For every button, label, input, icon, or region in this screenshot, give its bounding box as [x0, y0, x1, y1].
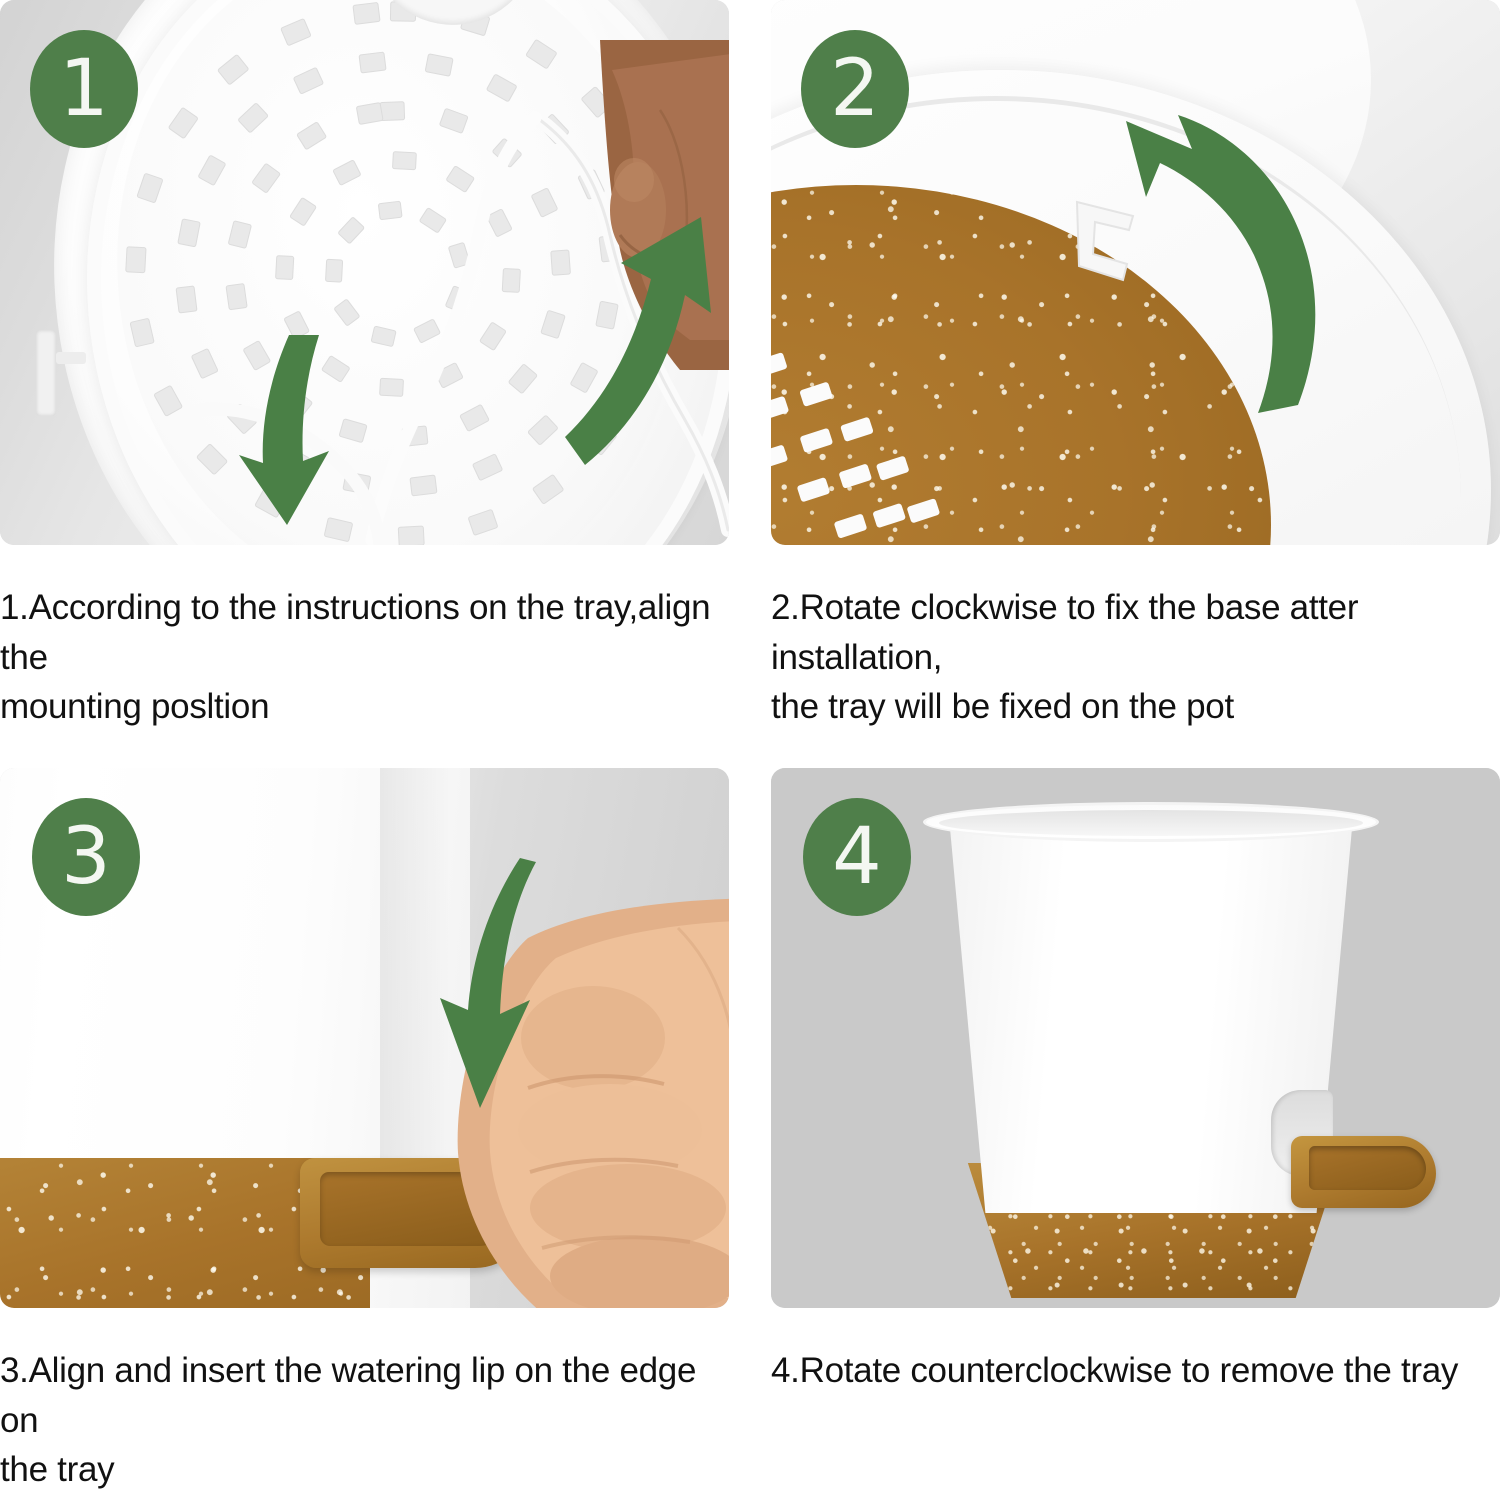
step-badge-4: 4 [803, 798, 911, 916]
step-cell-2: 2 2.Rotate clockwise to fix the base att… [771, 0, 1500, 545]
curved-arrow-up-right-icon [525, 175, 725, 465]
watering-spout [1291, 1136, 1436, 1208]
step-cell-1: 1 1.According to the instructions on the… [0, 0, 729, 545]
instruction-sheet: 1 1.According to the instructions on the… [0, 0, 1500, 1441]
pot-interior [939, 810, 1363, 836]
step-photo-1: 1 [0, 0, 729, 545]
step-badge-3: 3 [32, 798, 140, 916]
instruction-row-1: 1 1.According to the instructions on the… [0, 0, 1500, 768]
step-cell-4: 4 4.Rotate counterclockwise to remove th… [771, 768, 1500, 1308]
step-caption-2: 2.Rotate clockwise to fix the base atter… [771, 583, 1491, 732]
step-photo-4: 4 [771, 768, 1500, 1308]
step-caption-4: 4.Rotate counterclockwise to remove the … [771, 1346, 1491, 1396]
step-cell-3: 3 3.Align and insert the watering lip on… [0, 768, 729, 1308]
tray-side-clip-tab [56, 352, 86, 364]
curved-arrow-down-icon [388, 858, 558, 1108]
step-badge-1: 1 [30, 30, 138, 148]
tray-side-clip [36, 330, 56, 416]
step-caption-1: 1.According to the instructions on the t… [0, 583, 715, 732]
curved-arrow-up-left-icon [1126, 105, 1356, 415]
curved-arrow-down-icon [225, 335, 435, 525]
step-caption-3: 3.Align and insert the watering lip on t… [0, 1346, 715, 1495]
step-badge-2: 2 [801, 30, 909, 148]
instruction-row-2: 3 3.Align and insert the watering lip on… [0, 768, 1500, 1441]
step-photo-3: 3 [0, 768, 729, 1308]
watering-spout-channel [1309, 1146, 1426, 1190]
step-photo-2: 2 [771, 0, 1500, 545]
